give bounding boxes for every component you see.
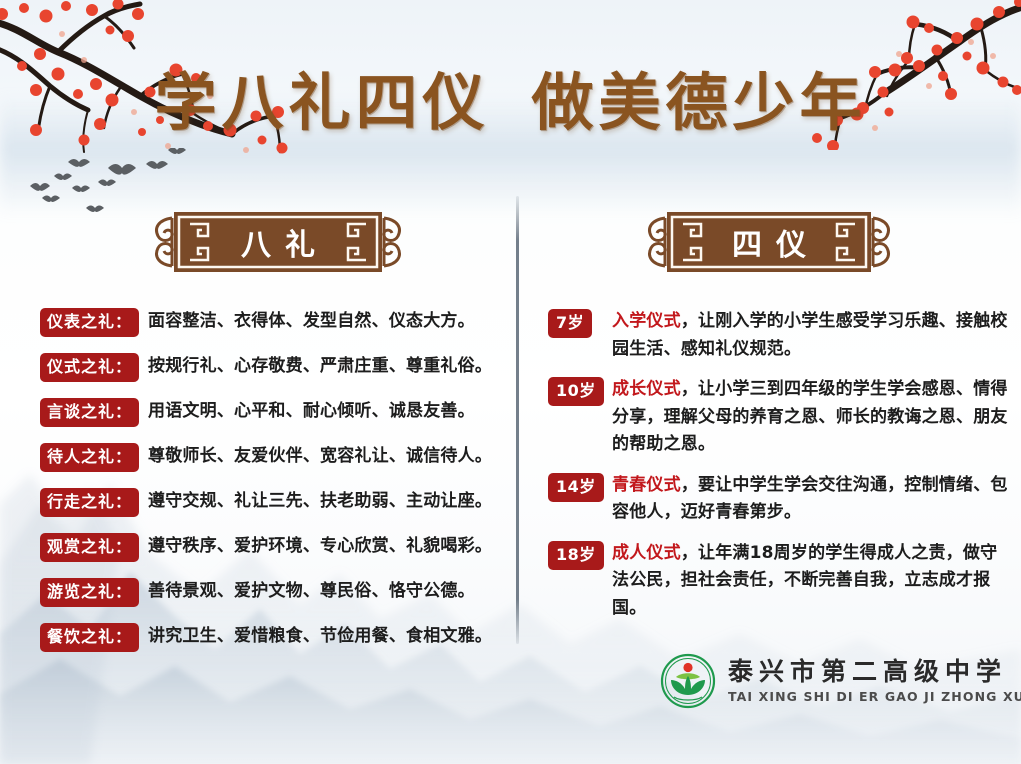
eight-rites-plaque: 八礼 [150,206,406,278]
rite-description: 按规行礼、心存敬费、严肃庄重、尊重礼俗。 [148,353,492,379]
ceremony-name: 青春仪式 [612,475,681,495]
school-name-pinyin: TAI XING SHI DI ER GAO JI ZHONG XUE [728,689,1021,704]
rite-row: 观赏之礼：遵守秩序、爱护环境、专心欣赏、礼貌喝彩。 [40,533,510,562]
rite-tag-badge: 游览之礼： [40,578,139,607]
rite-description: 讲究卫生、爱惜粮食、节俭用餐、食相文雅。 [148,623,492,649]
rite-description: 尊敬师长、友爱伙伴、宽容礼让、诚信待人。 [148,443,492,469]
rite-row: 待人之礼：尊敬师长、友爱伙伴、宽容礼让、诚信待人。 [40,443,510,472]
ceremony-age-badge: 10岁 [548,377,604,406]
rite-row: 行走之礼：遵守交规、礼让三先、扶老助弱、主动让座。 [40,488,510,517]
ceremony-age-badge: 14岁 [548,473,604,502]
rite-description: 善待景观、爱护文物、尊民俗、恪守公德。 [148,578,475,604]
four-ceremonies-plaque: 四仪 [643,206,895,278]
rite-tag-badge: 餐饮之礼： [40,623,139,652]
rite-row: 游览之礼：善待景观、爱护文物、尊民俗、恪守公德。 [40,578,510,607]
ceremony-age-badge: 18岁 [548,541,604,570]
title-part-2: 做美德少年 [532,66,867,139]
rite-description: 面容整洁、衣得体、发型自然、仪态大方。 [148,308,475,334]
school-identity: 泰兴市第二高级中学 TAI XING SHI DI ER GAO JI ZHON… [660,645,1000,717]
poster-canvas: 学八礼四仪做美德少年 [0,0,1021,764]
rite-tag-badge: 仪表之礼： [40,308,139,337]
rite-row: 言谈之礼：用语文明、心平和、耐心倾听、诚恳友善。 [40,398,510,427]
rite-tag-badge: 言谈之礼： [40,398,139,427]
eight-rites-column: 八礼 仪表之礼：面容整洁、衣得体、发型自然、仪态大方。仪式之礼：按规行礼、心存敬… [40,206,510,668]
ceremony-body: 入学仪式，让刚入学的小学生感受学习乐趣、接触校园生活、感知礼仪规范。 [612,308,1008,363]
rite-row: 餐饮之礼：讲究卫生、爱惜粮食、节俭用餐、食相文雅。 [40,623,510,652]
eight-rites-plaque-label: 八礼 [150,206,406,278]
four-ceremonies-list: 7岁入学仪式，让刚入学的小学生感受学习乐趣、接触校园生活、感知礼仪规范。10岁成… [548,308,1008,622]
ceremony-body: 成长仪式，让小学三到四年级的学生学会感恩、情得分享，理解父母的养育之恩、师长的教… [612,376,1008,459]
rite-description: 遵守交规、礼让三先、扶老助弱、主动让座。 [148,488,492,514]
ceremony-age-badge: 7岁 [548,309,592,338]
ceremony-row: 10岁成长仪式，让小学三到四年级的学生学会感恩、情得分享，理解父母的养育之恩、师… [548,376,1008,459]
rite-tag-badge: 仪式之礼： [40,353,139,382]
ceremony-body: 成人仪式，让年满18周岁的学生得成人之责，做守法公民，担社会责任，不断完善自我，… [612,540,1008,623]
ceremony-row: 18岁成人仪式，让年满18周岁的学生得成人之责，做守法公民，担社会责任，不断完善… [548,540,1008,623]
ceremony-row: 14岁青春仪式，要让中学生学会交往沟通，控制情绪、包容他人，迈好青春第步。 [548,472,1008,527]
rite-description: 用语文明、心平和、耐心倾听、诚恳友善。 [148,398,475,424]
school-name-block: 泰兴市第二高级中学 TAI XING SHI DI ER GAO JI ZHON… [728,658,1021,704]
rite-description: 遵守秩序、爱护环境、专心欣赏、礼貌喝彩。 [148,533,492,559]
rite-tag-badge: 待人之礼： [40,443,139,472]
four-ceremonies-plaque-label: 四仪 [643,206,895,278]
poster-title: 学八礼四仪做美德少年 [0,52,1021,142]
rite-tag-badge: 观赏之礼： [40,533,139,562]
title-part-1: 学八礼四仪 [154,66,489,139]
ceremony-name: 入学仪式 [612,311,681,331]
rite-row: 仪表之礼：面容整洁、衣得体、发型自然、仪态大方。 [40,308,510,337]
school-name-chinese: 泰兴市第二高级中学 [728,658,1021,686]
school-emblem-icon [660,653,716,709]
rite-tag-badge: 行走之礼： [40,488,139,517]
ceremony-name: 成长仪式 [612,379,681,399]
column-divider [516,196,519,644]
rite-row: 仪式之礼：按规行礼、心存敬费、严肃庄重、尊重礼俗。 [40,353,510,382]
four-ceremonies-column: 四仪 7岁入学仪式，让刚入学的小学生感受学习乐趣、接触校园生活、感知礼仪规范。1… [548,206,1008,635]
ceremony-row: 7岁入学仪式，让刚入学的小学生感受学习乐趣、接触校园生活、感知礼仪规范。 [548,308,1008,363]
eight-rites-list: 仪表之礼：面容整洁、衣得体、发型自然、仪态大方。仪式之礼：按规行礼、心存敬费、严… [40,308,510,652]
ceremony-name: 成人仪式 [612,543,681,563]
ceremony-body: 青春仪式，要让中学生学会交往沟通，控制情绪、包容他人，迈好青春第步。 [612,472,1008,527]
